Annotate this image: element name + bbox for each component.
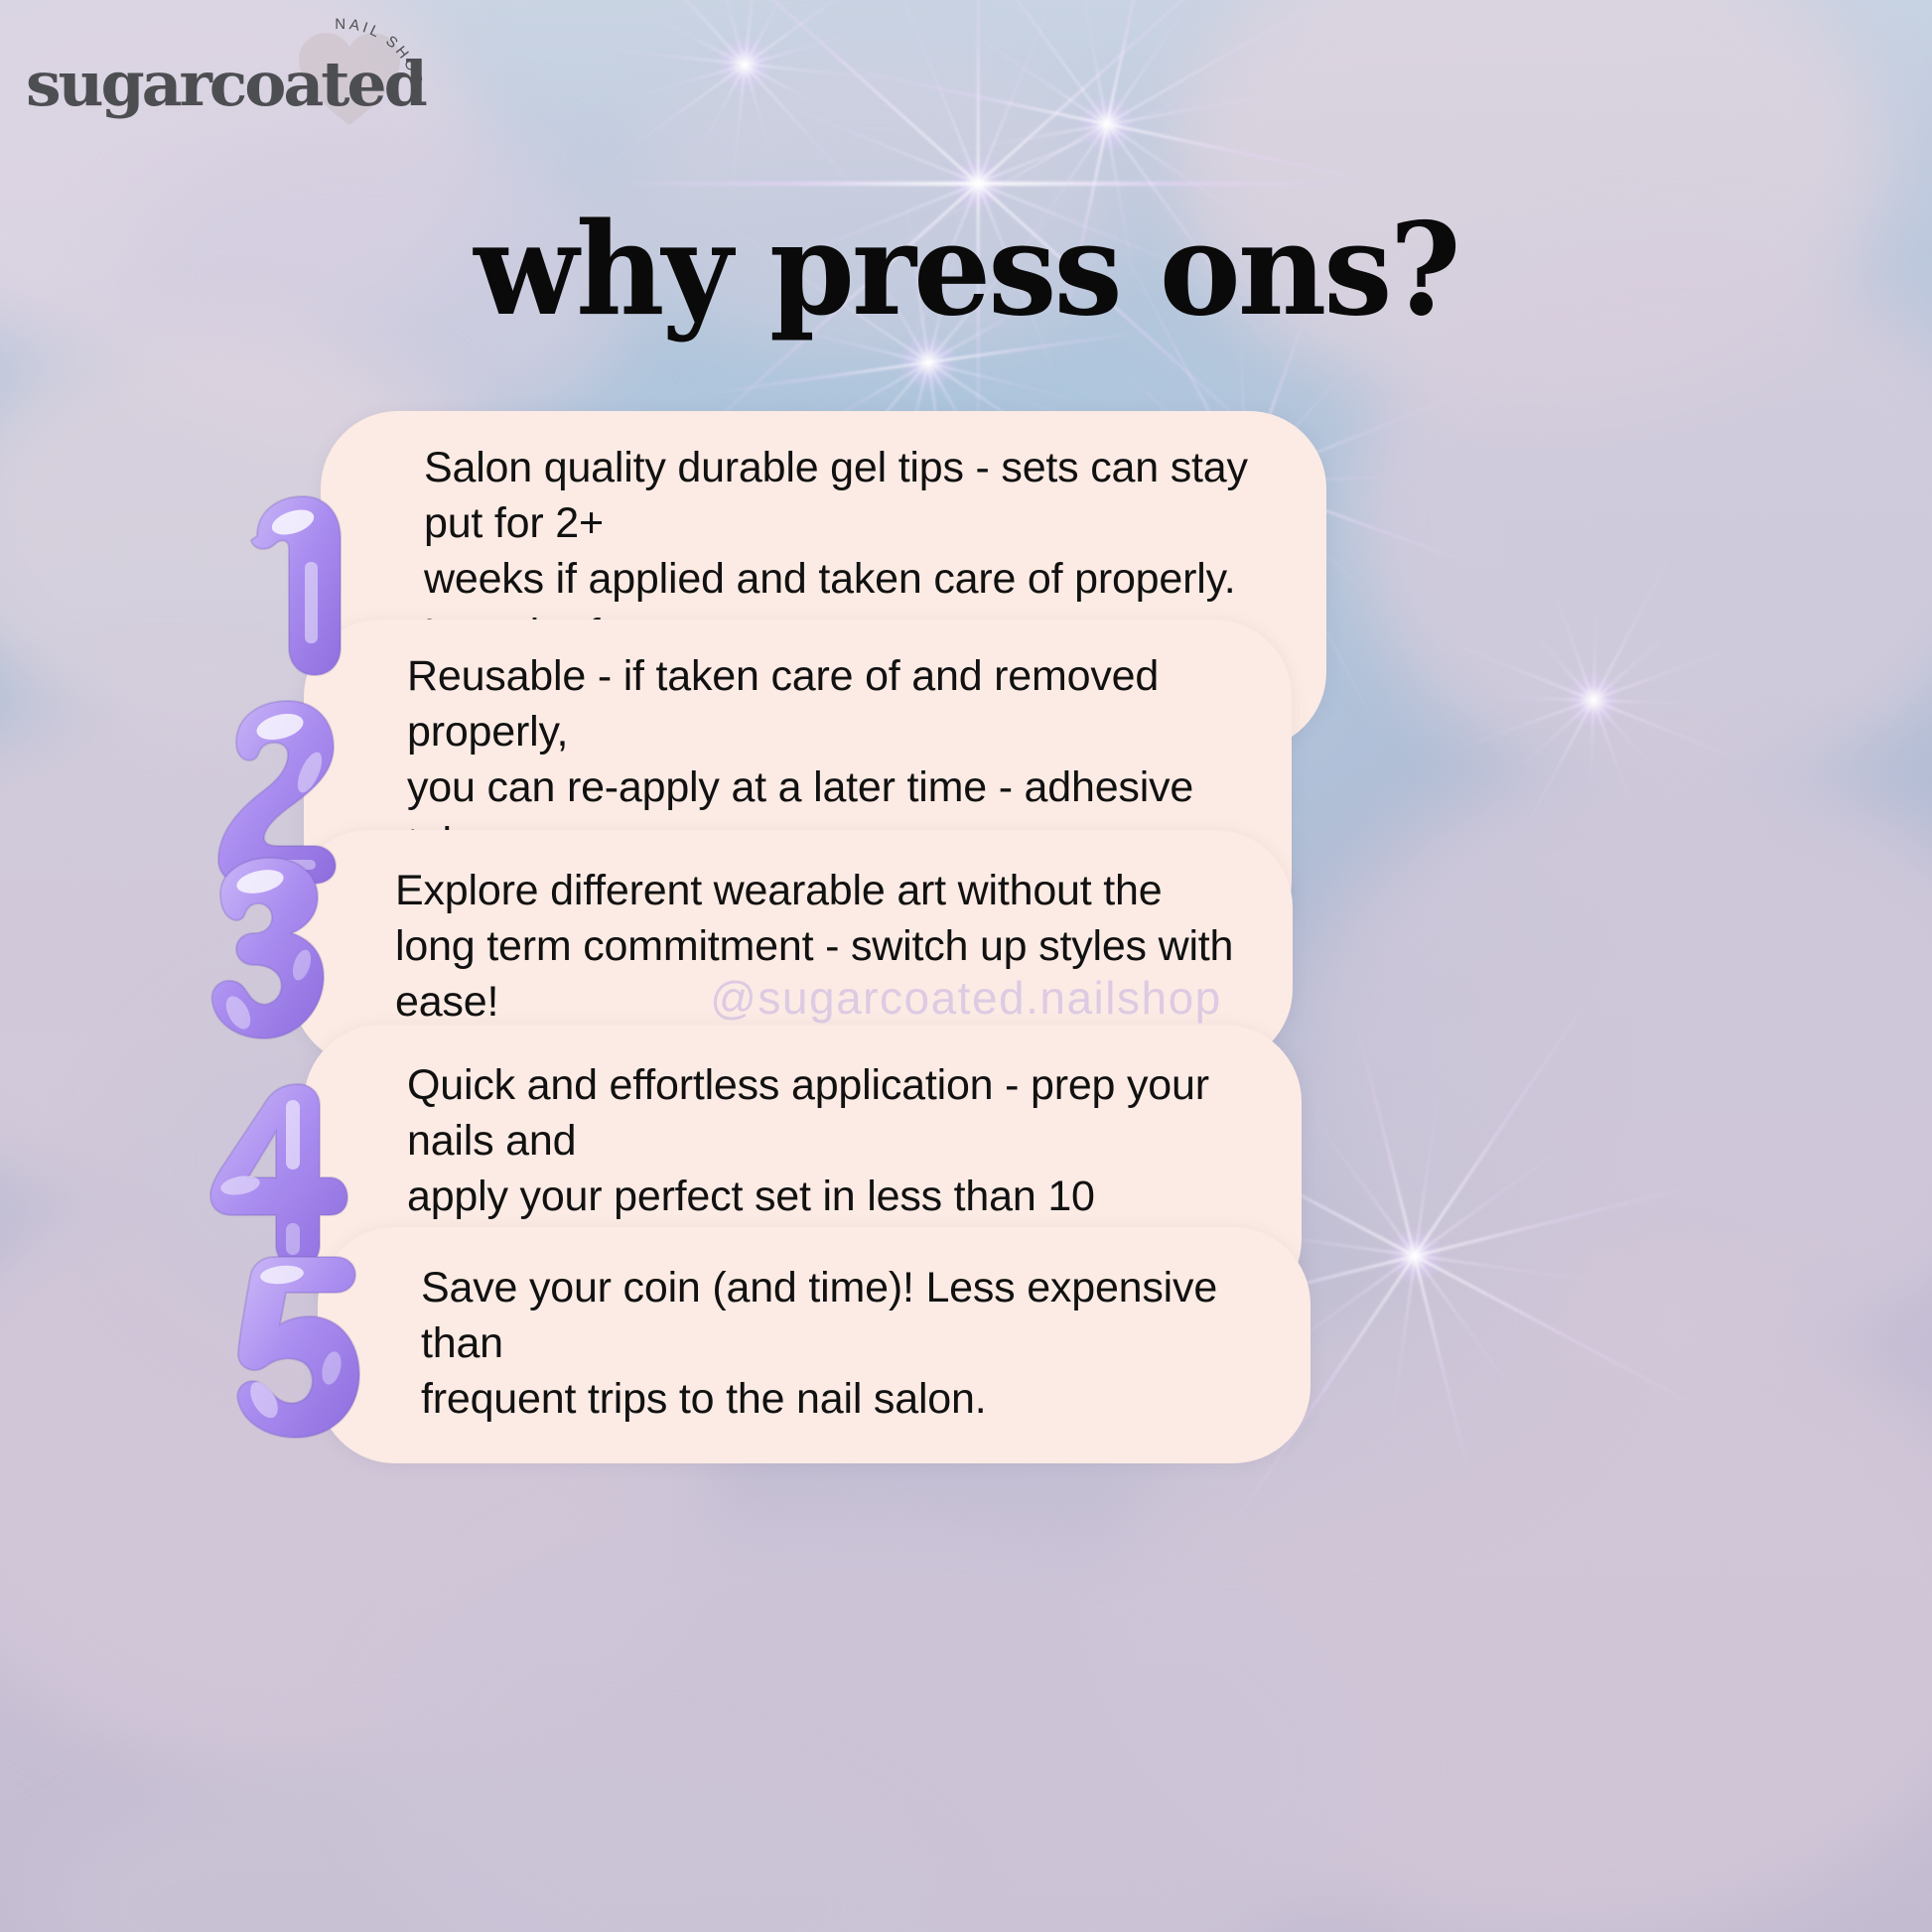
number-3-icon (195, 844, 344, 1052)
number-1-icon (223, 477, 372, 685)
number-5-icon (220, 1241, 369, 1449)
benefits-list: Salon quality durable gel tips - sets ca… (0, 0, 1932, 1932)
list-item: Save your coin (and time)! Less expensiv… (220, 1227, 1311, 1463)
benefit-card: Save your coin (and time)! Less expensiv… (318, 1227, 1311, 1463)
poster-canvas: NAIL SHOP sugarcoated why press ons? (0, 0, 1932, 1932)
benefit-text: Save your coin (and time)! Less expensiv… (421, 1261, 1257, 1428)
benefit-text: Explore different wearable art without t… (395, 864, 1239, 1031)
